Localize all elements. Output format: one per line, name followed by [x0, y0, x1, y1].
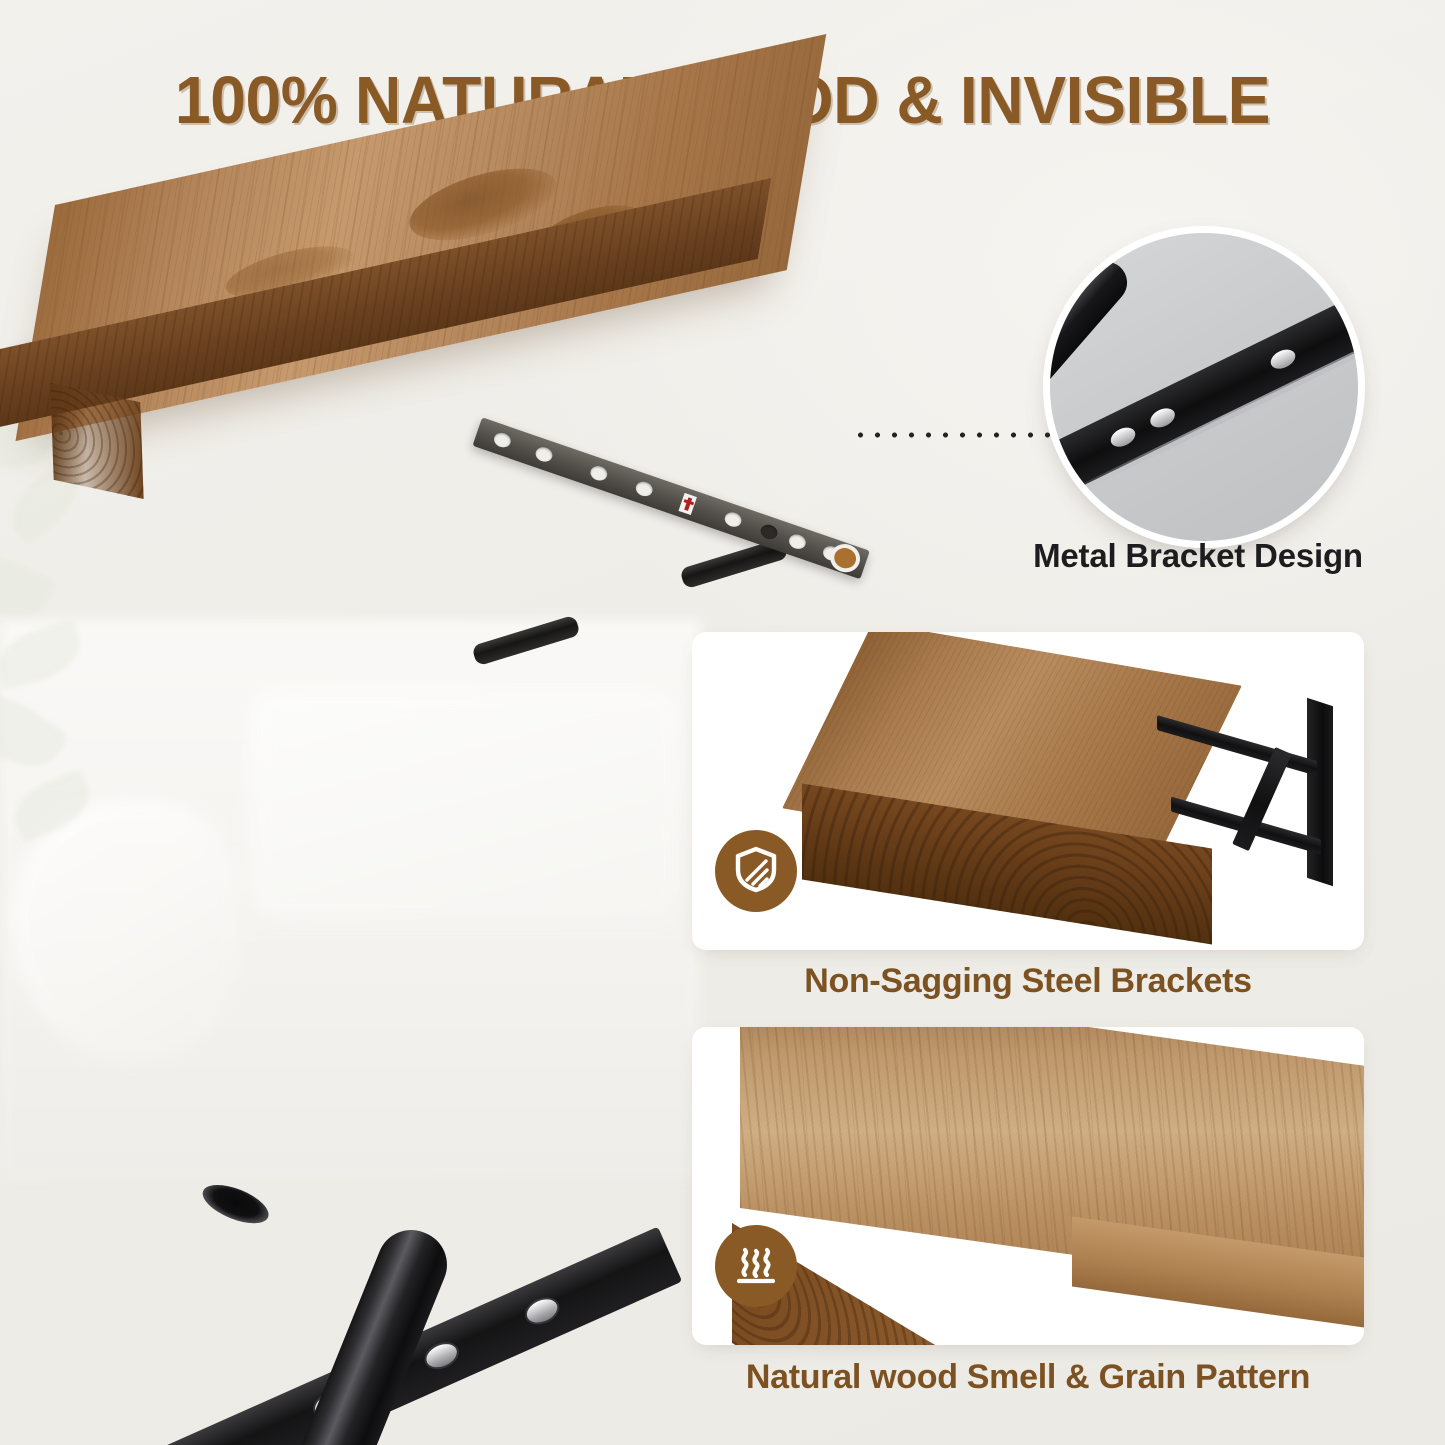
- hero-shelf-photo: [0, 150, 900, 670]
- warning-sticker: [678, 493, 696, 515]
- product-marketing-image: 100% NATURAL WOOD & INVISIBLE: [0, 0, 1445, 1445]
- metal-bracket-inset-photo: [1043, 226, 1365, 548]
- shelf-board-end-grain: [50, 383, 143, 499]
- feature-caption-steel-brackets: Non-Sagging Steel Brackets: [692, 962, 1364, 1001]
- t-bracket-tube-opening: [198, 1177, 274, 1231]
- feature-card-steel-brackets: [692, 632, 1364, 950]
- dotted-connector-line: [852, 432, 1052, 438]
- feature-caption-wood-grain: Natural wood Smell & Grain Pattern: [692, 1358, 1364, 1397]
- metal-bracket-design-label: Metal Bracket Design: [1000, 537, 1396, 575]
- steel-l-bracket: [1157, 702, 1347, 902]
- t-bracket-tube: [198, 1220, 458, 1445]
- sticker-red-mark: [684, 497, 692, 511]
- aroma-steam-icon: [732, 1241, 780, 1292]
- feature-card-wood-grain: [692, 1027, 1364, 1345]
- shield-icon: [733, 845, 779, 898]
- aroma-badge: [715, 1225, 797, 1307]
- shield-badge: [715, 830, 797, 912]
- black-t-bracket-photo: [0, 640, 660, 1445]
- metal-bracket-plate: [472, 417, 869, 579]
